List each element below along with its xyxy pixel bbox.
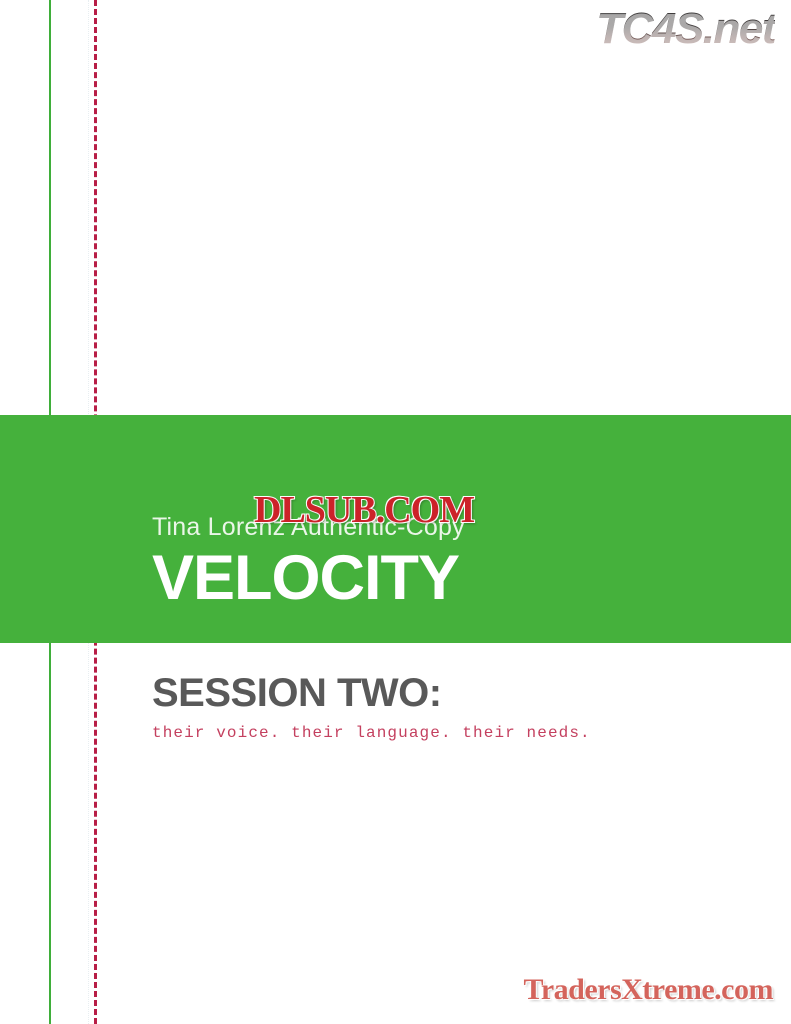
section-title: SESSION TWO: bbox=[152, 673, 791, 713]
watermark-top-right: TC4S.net bbox=[596, 4, 775, 54]
title-band-content: Tina Lorenz Authentic-Copy VELOCITY bbox=[152, 515, 791, 610]
section-subtitle: their voice. their language. their needs… bbox=[152, 725, 791, 741]
document-page: Tina Lorenz Authentic-Copy VELOCITY SESS… bbox=[0, 0, 791, 1024]
watermark-bottom-right: TradersXtreme.com bbox=[524, 973, 773, 1007]
page-title: VELOCITY bbox=[152, 546, 791, 610]
section-heading-block: SESSION TWO: their voice. their language… bbox=[152, 673, 791, 741]
title-band: Tina Lorenz Authentic-Copy VELOCITY bbox=[0, 415, 791, 643]
author-attribution: Tina Lorenz Authentic-Copy bbox=[152, 515, 791, 540]
